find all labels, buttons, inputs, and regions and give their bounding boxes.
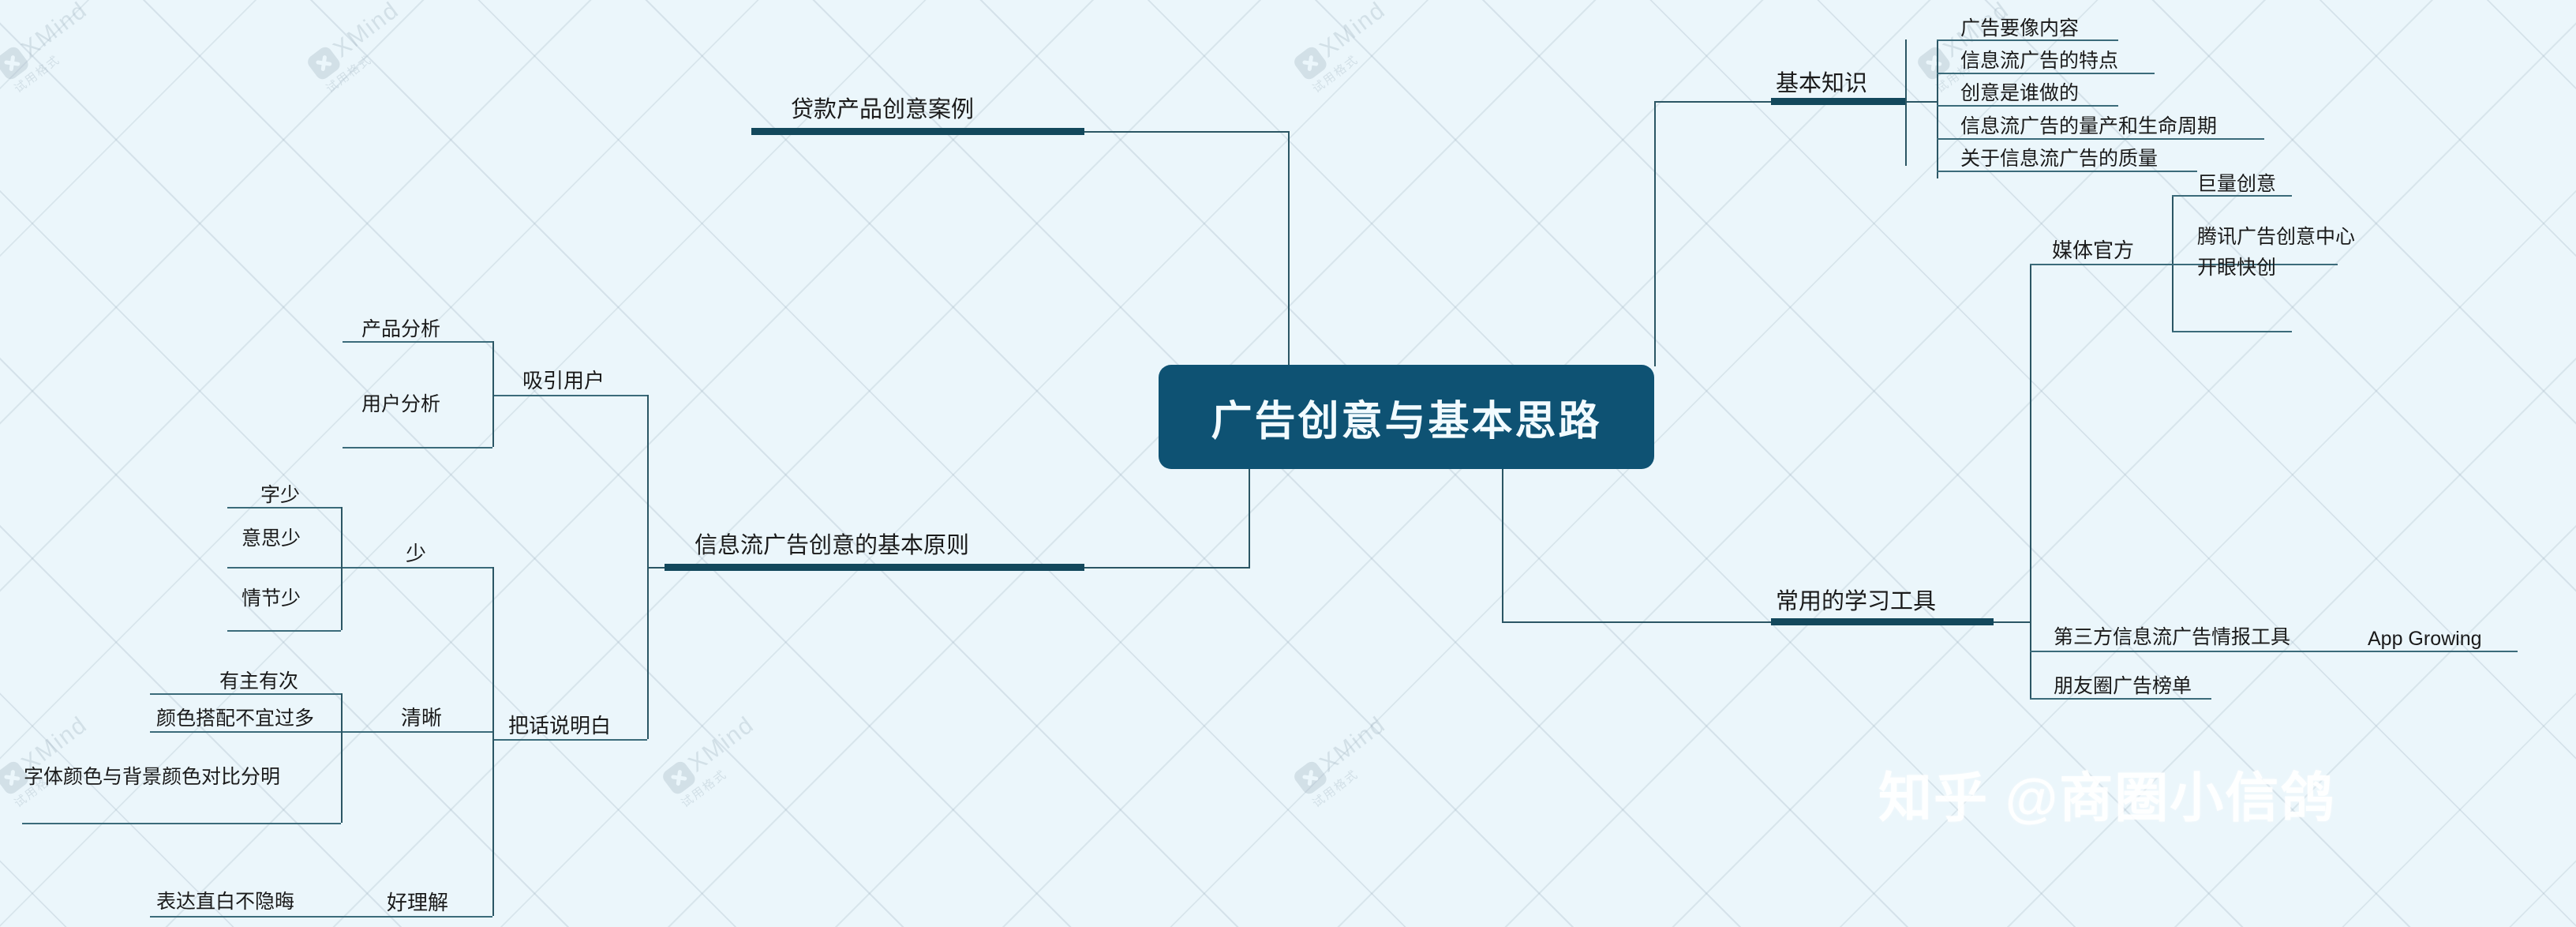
xmind-watermark-subtext: 试用格式	[322, 20, 416, 96]
connector-root-to-bottom-right	[1502, 621, 1771, 623]
xmind-watermark: XMind试用格式	[660, 711, 771, 811]
topic-main-and-secondary[interactable]: 有主有次	[219, 672, 298, 692]
topic-few-plots[interactable]: 情节少	[241, 589, 301, 609]
xmind-watermark-text: XMind	[17, 0, 92, 62]
leaf-underline-clear	[341, 731, 492, 733]
connector-speak-clearly-spine-lower	[492, 739, 494, 916]
leaf-underline-few-meanings	[227, 567, 341, 569]
xmind-logo-icon	[1292, 759, 1330, 797]
topic-basic-knowledge[interactable]: 基本知识	[1776, 73, 1867, 96]
topic-kaiyan-kuaichuang[interactable]: 开眼快创	[2197, 258, 2276, 278]
topic-clear[interactable]: 清晰	[401, 707, 442, 728]
connector-attract-users-spine-lower	[492, 395, 494, 447]
connector-root-to-top-right	[1654, 101, 1656, 366]
root-topic-label: 广告创意与基本思路	[1211, 388, 1601, 447]
xmind-logo-icon	[0, 44, 31, 82]
connector-basic-knowledge-stem	[1905, 101, 1937, 103]
leaf-underline-main-and-secondary	[150, 693, 341, 695]
xmind-watermark-text: XMind	[1315, 711, 1391, 778]
topic-media-official[interactable]: 媒体官方	[2052, 240, 2134, 261]
leaf-underline-attract-users	[492, 395, 647, 396]
branch-underline-basic-knowledge	[1771, 98, 1905, 105]
topic-user-analysis[interactable]: 用户分析	[361, 395, 440, 415]
topic-product-analysis[interactable]: 产品分析	[361, 320, 440, 340]
connector-clear-spine-lower	[341, 731, 343, 823]
xmind-watermark-text: XMind	[683, 711, 759, 778]
leaf-underline-few-words	[227, 507, 341, 509]
topic-about-ad-quality[interactable]: 关于信息流广告的质量	[1960, 149, 2158, 169]
xmind-logo-icon	[1915, 44, 1953, 82]
connector-root-to-top-left	[1084, 131, 1288, 133]
leaf-underline-third-party-intel-tool	[2030, 651, 2344, 652]
topic-speak-clearly[interactable]: 把话说明白	[508, 715, 611, 736]
leaf-underline-about-ad-quality	[1937, 171, 2197, 172]
topic-attract-users[interactable]: 吸引用户	[522, 370, 605, 391]
root-topic[interactable]: 广告创意与基本思路	[1159, 365, 1654, 469]
leaf-underline-few-plots	[227, 630, 341, 632]
leaf-underline-ad-like-content	[1937, 39, 2118, 41]
topic-less[interactable]: 少	[406, 543, 426, 564]
connector-less-spine-lower	[341, 567, 343, 630]
leaf-underline-color-not-too-many	[150, 731, 341, 733]
branch-underline-learning-tools	[1771, 618, 1994, 625]
connector-basic-knowledge-spine	[1905, 39, 1907, 166]
topic-juliang-creative[interactable]: 巨量创意	[2197, 175, 2276, 194]
leaf-underline-who-makes-creative	[1937, 105, 2118, 107]
connector-learning-tools-spine-upper	[2030, 264, 2031, 621]
leaf-underline-font-bg-contrast	[22, 823, 341, 824]
leaf-underline-feed-ad-features	[1937, 73, 2155, 74]
branch-underline-loan-product-cases	[751, 128, 1084, 135]
author-watermark: 知乎 @商圈小信鸽	[1878, 754, 2335, 832]
connector-speak-clearly-spine-upper	[492, 567, 494, 739]
topic-feed-ad-principles[interactable]: 信息流广告创意的基本原则	[695, 535, 969, 557]
connector-media-official-spine-upper	[2172, 195, 2173, 264]
xmind-watermark: XMind试用格式	[0, 0, 104, 96]
xmind-watermark: XMind试用格式	[0, 711, 104, 811]
xmind-watermark-text: XMind	[328, 0, 404, 62]
xmind-watermark-subtext: 试用格式	[10, 20, 104, 96]
xmind-watermark-subtext: 试用格式	[677, 734, 771, 811]
connector-clear-spine-upper	[341, 693, 343, 731]
connector-root-to-mid-left	[1084, 567, 1249, 569]
connector-basic-knowledge-spine-lower	[1937, 101, 1938, 178]
xmind-watermark-subtext: 试用格式	[1309, 20, 1402, 96]
topic-app-growing[interactable]: App Growing	[2368, 629, 2482, 649]
topic-font-bg-contrast[interactable]: 字体颜色与背景颜色对比分明	[24, 767, 280, 787]
xmind-logo-icon	[1292, 44, 1330, 82]
connector-principles-spine-upper	[647, 395, 649, 567]
topic-few-meanings[interactable]: 意思少	[241, 529, 301, 549]
xmind-watermark-subtext: 试用格式	[1309, 734, 1402, 811]
topic-moments-ad-ranking[interactable]: 朋友圈广告榜单	[2054, 677, 2192, 696]
leaf-underline-mass-production-lifecycle	[1937, 138, 2264, 140]
topic-straightforward-expression[interactable]: 表达直白不隐晦	[156, 892, 294, 912]
connector-learning-tools-stem	[1994, 621, 2030, 623]
leaf-underline-product-analysis	[343, 341, 492, 343]
connector-root-to-mid-left	[1249, 469, 1250, 569]
connector-root-to-bottom-right	[1502, 469, 1503, 623]
leaf-underline-straightforward-expression	[150, 916, 341, 918]
topic-mass-production-lifecycle[interactable]: 信息流广告的量产和生命周期	[1960, 117, 2217, 137]
topic-learning-tools[interactable]: 常用的学习工具	[1776, 591, 1936, 614]
connector-less-spine-upper	[341, 507, 343, 567]
topic-color-not-too-many[interactable]: 颜色搭配不宜过多	[156, 709, 314, 729]
connector-media-official-spine-lower	[2172, 264, 2173, 331]
leaf-underline-user-analysis	[343, 447, 492, 448]
xmind-watermark: XMind试用格式	[1291, 0, 1402, 96]
leaf-underline-kaiyan-kuaichuang	[2172, 331, 2292, 332]
branch-underline-feed-ad-principles	[665, 564, 1084, 571]
topic-loan-product-cases[interactable]: 贷款产品创意案例	[791, 99, 974, 122]
leaf-underline-easy-to-understand	[341, 916, 492, 918]
leaf-underline-speak-clearly	[492, 739, 647, 741]
leaf-underline-app-growing	[2344, 651, 2518, 652]
xmind-logo-icon	[305, 44, 343, 82]
topic-third-party-intel-tool[interactable]: 第三方信息流广告情报工具	[2054, 628, 2290, 647]
leaf-underline-moments-ad-ranking	[2030, 698, 2211, 700]
xmind-watermark: XMind试用格式	[305, 0, 416, 96]
connector-learning-tools-spine-lower	[2030, 621, 2031, 698]
xmind-watermark: XMind试用格式	[1291, 711, 1402, 811]
connector-principles-spine-lower	[647, 567, 649, 739]
connector-root-to-top-left	[1288, 131, 1290, 365]
xmind-watermark-text: XMind	[1315, 0, 1391, 62]
topic-feed-ad-features[interactable]: 信息流广告的特点	[1960, 51, 2118, 71]
leaf-underline-less	[341, 567, 492, 569]
topic-tencent-creative-center[interactable]: 腾讯广告创意中心	[2197, 227, 2355, 247]
topic-easy-to-understand[interactable]: 好理解	[387, 892, 448, 913]
topic-ad-like-content[interactable]: 广告要像内容	[1960, 19, 2079, 39]
connector-root-to-top-right	[1654, 101, 1771, 103]
topic-who-makes-creative[interactable]: 创意是谁做的	[1960, 84, 2079, 103]
leaf-underline-media-official	[2030, 264, 2172, 265]
xmind-logo-icon	[661, 759, 698, 797]
leaf-underline-juliang-creative	[2172, 195, 2292, 197]
connector-principles-stem	[647, 567, 665, 569]
connector-attract-users-spine-upper	[492, 341, 494, 395]
mindmap-canvas: XMind试用格式 XMind试用格式 XMind试用格式 XMind试用格式 …	[0, 0, 2576, 927]
topic-few-words[interactable]: 字少	[260, 486, 300, 505]
